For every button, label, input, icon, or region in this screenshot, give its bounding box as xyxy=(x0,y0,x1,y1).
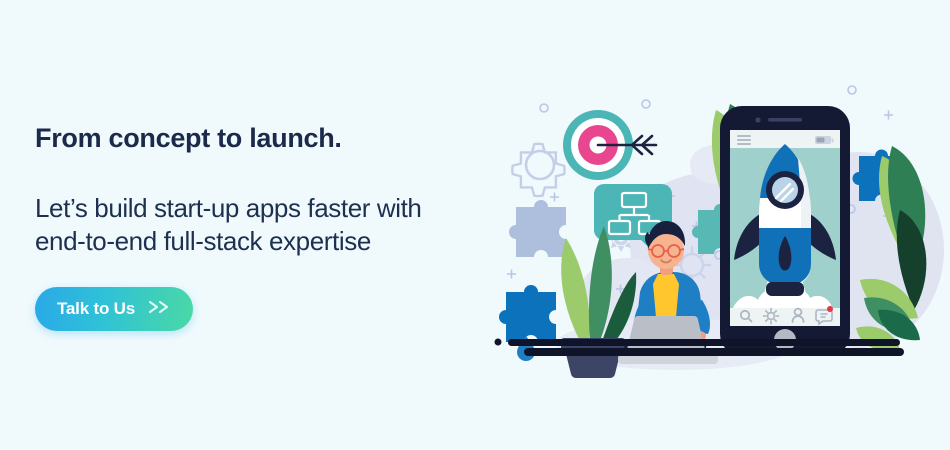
target-with-arrow-icon xyxy=(563,110,656,180)
battery-icon xyxy=(815,136,834,144)
subheading-line-1: Let’s build start-up apps faster with xyxy=(35,193,422,223)
talk-to-us-button[interactable]: Talk to Us xyxy=(35,287,193,331)
page-title: From concept to launch. xyxy=(35,122,505,154)
subheading-line-2: end-to-end full-stack expertise xyxy=(35,226,371,256)
startup-launch-illustration xyxy=(480,60,950,380)
talk-to-us-label: Talk to Us xyxy=(57,299,135,319)
puzzle-piece-light-icon xyxy=(509,200,566,257)
subheading: Let’s build start-up apps faster with en… xyxy=(35,192,505,258)
promo-banner: From concept to launch. Let’s build star… xyxy=(0,0,950,450)
double-chevron-right-icon xyxy=(147,299,173,318)
smartphone-rocket-screen xyxy=(720,106,850,356)
gear-outline-icon xyxy=(512,144,564,196)
copy-block: From concept to launch. Let’s build star… xyxy=(35,122,505,331)
cta-container: Talk to Us xyxy=(35,287,505,331)
puzzle-piece-blue-icon xyxy=(499,285,556,342)
